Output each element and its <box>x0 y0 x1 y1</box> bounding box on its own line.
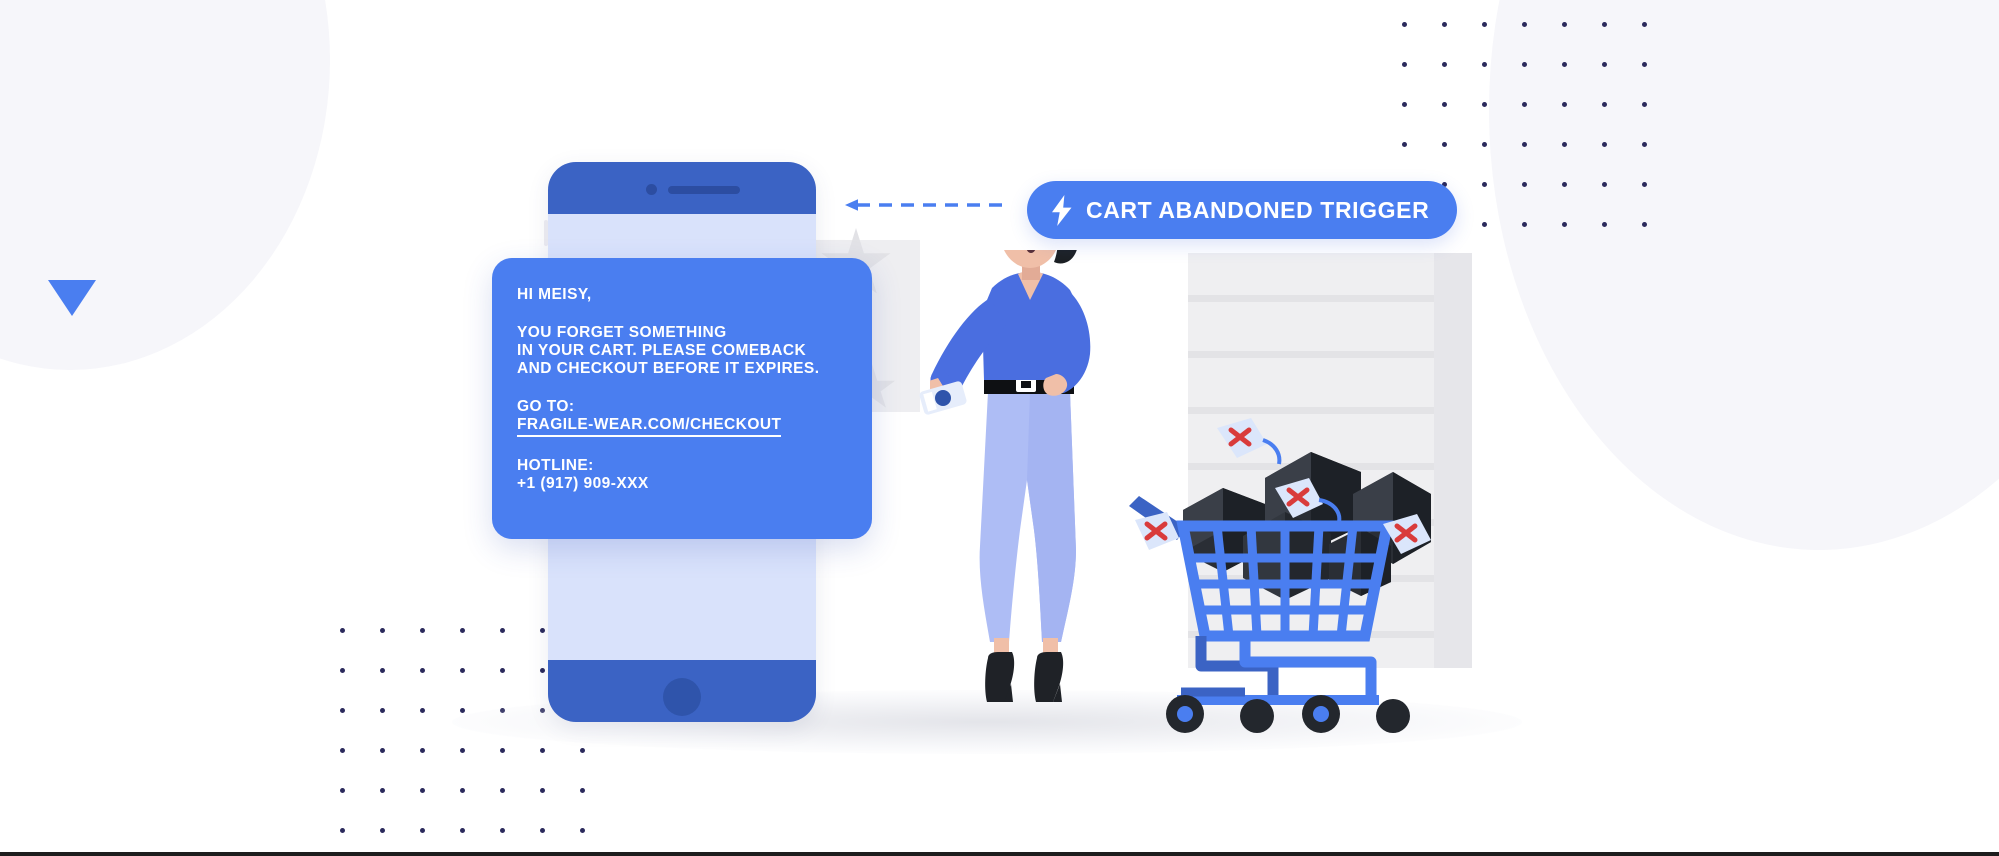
speaker-slot-icon <box>668 186 740 194</box>
grid-dot <box>1522 22 1527 27</box>
grid-dot <box>1602 182 1607 187</box>
grid-dot <box>1482 182 1487 187</box>
grid-dot <box>380 628 385 633</box>
goto-label: GO TO: <box>517 398 852 416</box>
price-tag <box>1135 512 1179 550</box>
grid-dot <box>340 828 345 833</box>
message-bubble-tail <box>48 280 96 316</box>
grid-dot <box>460 828 465 833</box>
grid-dot <box>1602 222 1607 227</box>
grid-dot <box>460 748 465 753</box>
shopping-cart <box>1125 400 1435 740</box>
grid-dot <box>460 628 465 633</box>
grid-dot <box>420 668 425 673</box>
grid-dot <box>1442 142 1447 147</box>
grid-dot <box>1522 142 1527 147</box>
grid-dot <box>1522 222 1527 227</box>
grid-dot <box>1562 102 1567 107</box>
shelf-row <box>1188 351 1434 358</box>
grid-dot <box>380 708 385 713</box>
grid-dot <box>1482 102 1487 107</box>
grid-dot <box>540 788 545 793</box>
message-body-line-3: AND CHECKOUT BEFORE IT EXPIRES. <box>517 360 852 378</box>
home-button-icon[interactable] <box>663 678 701 716</box>
grid-dot <box>420 748 425 753</box>
grid-dot <box>380 788 385 793</box>
grid-dot <box>460 708 465 713</box>
grid-dot <box>1482 62 1487 67</box>
message-bubble-text: HI MEISY, YOU FORGET SOMETHING IN YOUR C… <box>517 286 852 493</box>
hotline-label: HOTLINE: <box>517 457 852 475</box>
grid-dot <box>1562 62 1567 67</box>
grid-dot <box>1402 102 1407 107</box>
trigger-badge-label: CART ABANDONED TRIGGER <box>1086 197 1429 224</box>
grid-dot <box>1402 22 1407 27</box>
grid-dot <box>460 788 465 793</box>
cart-wheel-hub <box>1177 706 1193 722</box>
grid-dot <box>1562 182 1567 187</box>
shelf-row <box>1188 295 1434 302</box>
grid-dot <box>1442 62 1447 67</box>
shelf-side-panel <box>1434 253 1472 668</box>
grid-dot <box>500 748 505 753</box>
grid-dot <box>1522 62 1527 67</box>
cart-wheel <box>1376 699 1410 733</box>
grid-dot <box>1482 142 1487 147</box>
grid-dot <box>1642 142 1647 147</box>
camera-dot-icon <box>646 184 657 195</box>
grid-dot <box>1482 22 1487 27</box>
grid-dot <box>500 668 505 673</box>
grid-dot <box>1522 182 1527 187</box>
grid-dot <box>1602 142 1607 147</box>
cart-wheel <box>1240 699 1274 733</box>
dashed-connector-arrow <box>845 198 1005 212</box>
grid-dot <box>420 828 425 833</box>
grid-dot <box>1442 22 1447 27</box>
bottom-divider <box>0 852 1999 856</box>
grid-dot <box>540 628 545 633</box>
grid-dot <box>1642 62 1647 67</box>
background-blob-right <box>1489 0 1999 550</box>
illustration-canvas: HI MEISY, YOU FORGET SOMETHING IN YOUR C… <box>0 0 1999 856</box>
grid-dot <box>540 828 545 833</box>
grid-dot <box>420 708 425 713</box>
grid-dot <box>420 628 425 633</box>
phone-top-bezel <box>548 162 816 214</box>
grid-dot <box>540 748 545 753</box>
grid-dot <box>420 788 425 793</box>
grid-dot <box>1482 222 1487 227</box>
grid-dot <box>380 828 385 833</box>
pants-shade <box>1027 392 1076 642</box>
grid-dot <box>580 788 585 793</box>
price-tag <box>1217 418 1279 464</box>
lightning-bolt-icon <box>1051 195 1073 226</box>
grid-dot <box>1642 22 1647 27</box>
grid-dot <box>460 668 465 673</box>
grid-dot <box>1602 22 1607 27</box>
grid-dot <box>580 748 585 753</box>
grid-dot <box>340 708 345 713</box>
grid-dot <box>580 828 585 833</box>
message-body-line-1: YOU FORGET SOMETHING <box>517 324 852 342</box>
grid-dot <box>1402 142 1407 147</box>
grid-dot <box>340 788 345 793</box>
cart-frame <box>1245 636 1371 696</box>
grid-dot <box>1522 102 1527 107</box>
grid-dot <box>500 788 505 793</box>
held-smartphone <box>917 378 969 420</box>
phone-side-button[interactable] <box>544 220 548 246</box>
grid-dot <box>500 628 505 633</box>
hotline-number: +1 (917) 909-XXX <box>517 475 852 493</box>
message-body-line-2: IN YOUR CART. PLEASE COMEBACK <box>517 342 852 360</box>
grid-dot <box>1602 62 1607 67</box>
grid-dot <box>340 748 345 753</box>
grid-dot <box>1642 222 1647 227</box>
held-phone-screen-dot <box>935 390 951 406</box>
phone-bottom-bezel <box>548 660 816 722</box>
grid-dot <box>1602 102 1607 107</box>
cart-wheel-hub <box>1313 706 1329 722</box>
grid-dot <box>1562 142 1567 147</box>
checkout-link[interactable]: FRAGILE-WEAR.COM/CHECKOUT <box>517 416 781 437</box>
grid-dot <box>500 828 505 833</box>
grid-dot <box>1642 102 1647 107</box>
grid-dot <box>380 748 385 753</box>
woman-character <box>930 250 1130 730</box>
grid-dot <box>1402 62 1407 67</box>
message-bubble: HI MEISY, YOU FORGET SOMETHING IN YOUR C… <box>492 258 872 539</box>
grid-dot <box>1562 222 1567 227</box>
grid-dot <box>340 628 345 633</box>
message-greeting: HI MEISY, <box>517 286 852 304</box>
grid-dot <box>1642 182 1647 187</box>
grid-dot <box>540 668 545 673</box>
grid-dot <box>380 668 385 673</box>
grid-dot <box>1442 102 1447 107</box>
grid-dot <box>340 668 345 673</box>
belt-buckle-hole <box>1021 381 1031 388</box>
arrow-left-icon <box>845 199 858 211</box>
grid-dot <box>1562 22 1567 27</box>
cart-abandoned-trigger-badge[interactable]: CART ABANDONED TRIGGER <box>1027 181 1457 239</box>
